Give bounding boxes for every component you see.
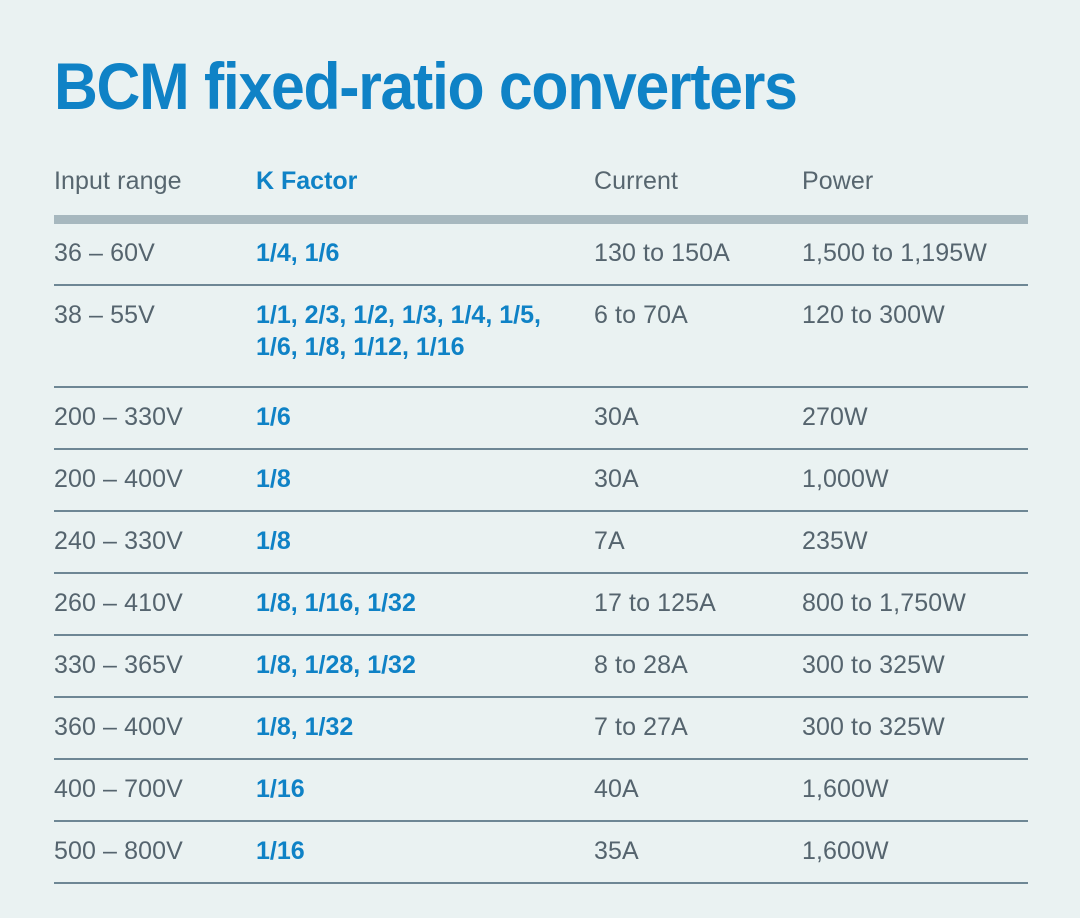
table-row: 400 – 700V 1/16 40A 1,600W <box>54 760 1028 820</box>
column-header-k-factor: K Factor <box>256 166 594 196</box>
cell-current: 130 to 150A <box>594 237 802 269</box>
cell-current: 7 to 27A <box>594 711 802 743</box>
converters-table: Input range K Factor Current Power 36 – … <box>54 166 1028 884</box>
table-row: 500 – 800V 1/16 35A 1,600W <box>54 822 1028 882</box>
cell-power: 1,500 to 1,195W <box>802 237 1028 269</box>
cell-current: 30A <box>594 463 802 495</box>
table-bottom-rule <box>54 882 1028 884</box>
table-row: 36 – 60V 1/4, 1/6 130 to 150A 1,500 to 1… <box>54 224 1028 284</box>
table-row: 360 – 400V 1/8, 1/32 7 to 27A 300 to 325… <box>54 698 1028 758</box>
cell-power: 270W <box>802 401 1028 433</box>
table-header-row: Input range K Factor Current Power <box>54 166 1028 208</box>
page-root: BCM fixed-ratio converters Input range K… <box>0 0 1080 918</box>
cell-k-factor: 1/8, 1/16, 1/32 <box>256 587 594 619</box>
cell-power: 800 to 1,750W <box>802 587 1028 619</box>
cell-input-range: 240 – 330V <box>54 525 256 557</box>
cell-k-factor: 1/4, 1/6 <box>256 237 594 269</box>
cell-current: 17 to 125A <box>594 587 802 619</box>
table-row: 260 – 410V 1/8, 1/16, 1/32 17 to 125A 80… <box>54 574 1028 634</box>
cell-input-range: 200 – 400V <box>54 463 256 495</box>
page-title: BCM fixed-ratio converters <box>54 48 956 124</box>
table-row: 240 – 330V 1/8 7A 235W <box>54 512 1028 572</box>
column-header-power: Power <box>802 166 1028 196</box>
cell-input-range: 38 – 55V <box>54 299 256 331</box>
cell-k-factor: 1/8, 1/28, 1/32 <box>256 649 594 681</box>
cell-current: 6 to 70A <box>594 299 802 331</box>
cell-input-range: 330 – 365V <box>54 649 256 681</box>
cell-k-factor: 1/16 <box>256 773 594 805</box>
cell-input-range: 400 – 700V <box>54 773 256 805</box>
cell-k-factor: 1/16 <box>256 835 594 867</box>
cell-input-range: 360 – 400V <box>54 711 256 743</box>
cell-power: 120 to 300W <box>802 299 1028 331</box>
cell-current: 40A <box>594 773 802 805</box>
header-rule <box>54 215 1028 224</box>
cell-current: 7A <box>594 525 802 557</box>
cell-input-range: 260 – 410V <box>54 587 256 619</box>
cell-k-factor: 1/1, 2/3, 1/2, 1/3, 1/4, 1/5, 1/6, 1/8, … <box>256 299 594 363</box>
cell-k-factor: 1/8 <box>256 463 594 495</box>
cell-current: 30A <box>594 401 802 433</box>
cell-power: 300 to 325W <box>802 711 1028 743</box>
cell-power: 235W <box>802 525 1028 557</box>
table-row: 200 – 330V 1/6 30A 270W <box>54 388 1028 448</box>
cell-power: 300 to 325W <box>802 649 1028 681</box>
cell-k-factor: 1/8 <box>256 525 594 557</box>
cell-k-factor: 1/8, 1/32 <box>256 711 594 743</box>
cell-input-range: 36 – 60V <box>54 237 256 269</box>
cell-input-range: 500 – 800V <box>54 835 256 867</box>
cell-power: 1,600W <box>802 773 1028 805</box>
cell-power: 1,600W <box>802 835 1028 867</box>
cell-power: 1,000W <box>802 463 1028 495</box>
table-row: 330 – 365V 1/8, 1/28, 1/32 8 to 28A 300 … <box>54 636 1028 696</box>
cell-k-factor: 1/6 <box>256 401 594 433</box>
cell-current: 8 to 28A <box>594 649 802 681</box>
column-header-current: Current <box>594 166 802 196</box>
column-header-input-range: Input range <box>54 166 256 196</box>
table-row: 38 – 55V 1/1, 2/3, 1/2, 1/3, 1/4, 1/5, 1… <box>54 286 1028 386</box>
cell-current: 35A <box>594 835 802 867</box>
table-row: 200 – 400V 1/8 30A 1,000W <box>54 450 1028 510</box>
cell-input-range: 200 – 330V <box>54 401 256 433</box>
